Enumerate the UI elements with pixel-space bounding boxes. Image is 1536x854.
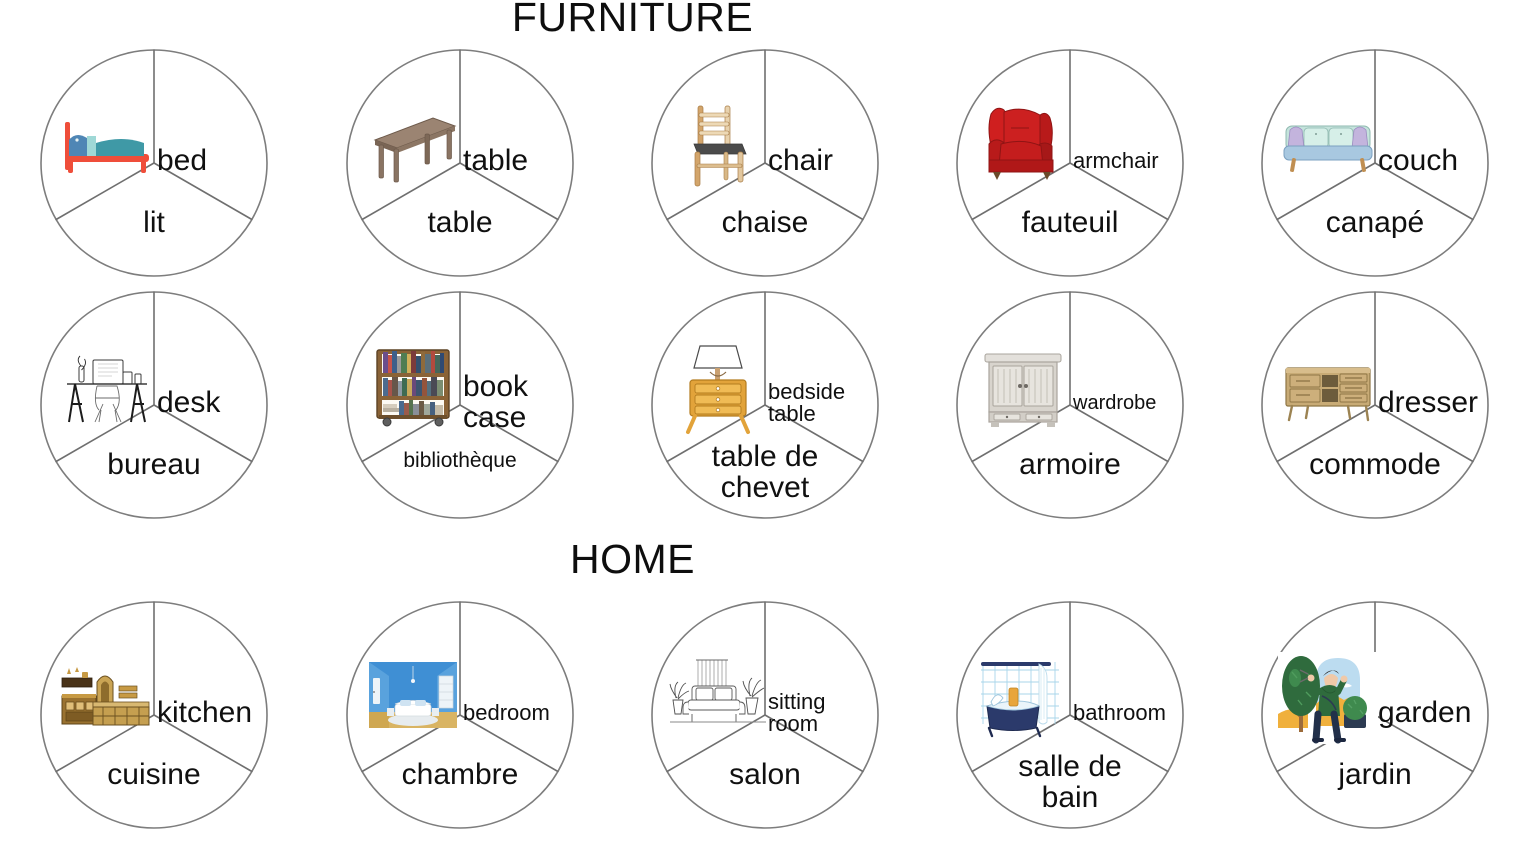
- flashcard-dresser[interactable]: dressercommode: [1260, 290, 1490, 520]
- table-icon: [363, 100, 463, 192]
- flashcard-chair[interactable]: chairchaise: [650, 48, 880, 278]
- bed-icon: [57, 100, 157, 192]
- flashcard-armchair[interactable]: armchairfauteuil: [955, 48, 1185, 278]
- bedside-icon: [668, 342, 768, 434]
- flashcard-bed[interactable]: bedlit: [39, 48, 269, 278]
- chair-icon: [668, 100, 768, 192]
- flashcard-kitchen[interactable]: kitchencuisine: [39, 600, 269, 830]
- flashcard-bedroom[interactable]: bedroomchambre: [345, 600, 575, 830]
- bookcase-icon: [363, 342, 463, 434]
- flashcard-bookcase[interactable]: book casebibliothèque: [345, 290, 575, 520]
- wardrobe-icon: [973, 342, 1073, 434]
- dresser-icon: [1278, 342, 1378, 434]
- bedroom-icon: [363, 652, 463, 744]
- armchair-icon: [973, 100, 1073, 192]
- section-title-furniture: FURNITURE: [0, 0, 1265, 41]
- flashcard-garden[interactable]: gardenjardin: [1260, 600, 1490, 830]
- flashcard-couch[interactable]: couchcanapé: [1260, 48, 1490, 278]
- flashcard-bedside[interactable]: bedside tabletable de chevet: [650, 290, 880, 520]
- flashcard-desk[interactable]: deskbureau: [39, 290, 269, 520]
- section-title-home: HOME: [0, 536, 1265, 583]
- garden-icon: [1278, 652, 1378, 744]
- flashcard-sheet: FURNITURE HOME bedlit tabletable: [0, 0, 1536, 854]
- flashcard-table[interactable]: tabletable: [345, 48, 575, 278]
- sittingroom-icon: [668, 652, 768, 744]
- desk-icon: [57, 342, 157, 434]
- flashcard-wardrobe[interactable]: wardrobearmoire: [955, 290, 1185, 520]
- bathroom-icon: [973, 652, 1073, 744]
- couch-icon: [1278, 100, 1378, 192]
- flashcard-bathroom[interactable]: bathroomsalle de bain: [955, 600, 1185, 830]
- flashcard-sitting[interactable]: sitting roomsalon: [650, 600, 880, 830]
- kitchen-icon: [57, 652, 157, 744]
